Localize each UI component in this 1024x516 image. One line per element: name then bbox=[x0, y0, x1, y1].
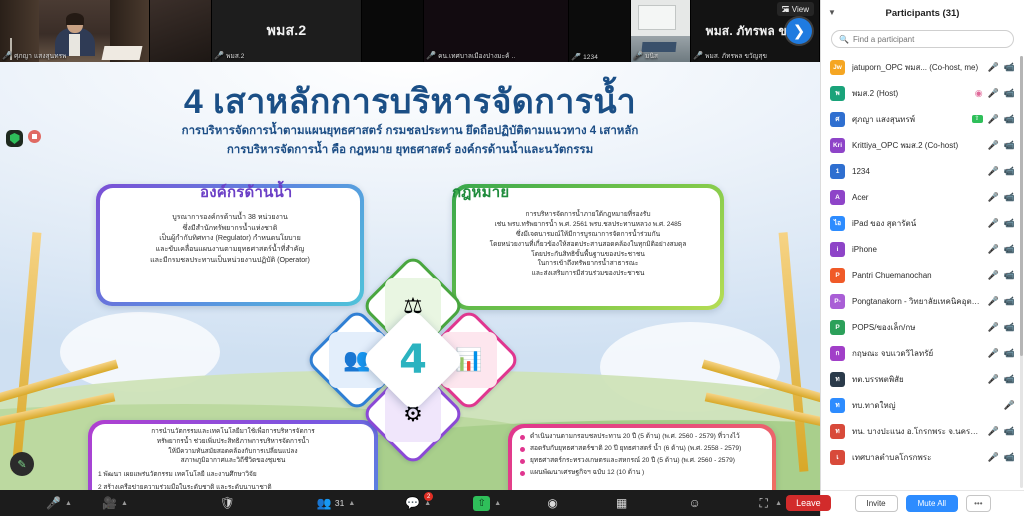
leave-button[interactable]: Leave bbox=[786, 495, 831, 511]
camera-off-icon[interactable]: 📹 bbox=[1004, 245, 1015, 254]
avatar: 1 bbox=[830, 164, 845, 179]
participant-row[interactable]: KriKrittiya_OPC พมส.2 (Co-host)🎤📹 bbox=[821, 132, 1024, 158]
participant-status-icons: 🎤📹 bbox=[988, 193, 1015, 202]
avatar: A bbox=[830, 190, 845, 205]
camera-off-icon[interactable]: 📹 bbox=[1004, 63, 1015, 72]
search-input[interactable] bbox=[853, 35, 1006, 44]
thumbnail-label: 🎤 คน.เทศบาลเมืองปางมะค้ .. bbox=[426, 51, 515, 61]
participant-name: 1234 bbox=[852, 167, 981, 176]
avatar: P bbox=[830, 320, 845, 335]
camera-off-icon[interactable]: 📹 bbox=[1004, 427, 1015, 436]
participant-status-icons: ◉🎤📹 bbox=[975, 89, 1015, 98]
participant-status-icons: 🎤📹 bbox=[988, 375, 1015, 384]
participant-name: iPhone bbox=[852, 245, 981, 254]
avatar: i bbox=[830, 242, 845, 257]
participant-name: ศุภญา แสงสุนทรพ์ bbox=[852, 113, 965, 126]
mic-muted-icon[interactable]: 🎤 bbox=[988, 271, 999, 280]
search-icon: 🔍 bbox=[839, 35, 849, 44]
slide-subtitle-line1: การบริหารจัดการน้ำตามแผนยุทธศาสตร์ กรมชล… bbox=[0, 122, 820, 141]
screen-share-indicator-icon: ⇧ bbox=[972, 115, 983, 123]
camera-off-icon[interactable]: 📹 bbox=[1004, 193, 1015, 202]
thumbnail-label: 🎤 ศุภญา แสงสุนทรพ bbox=[2, 51, 67, 61]
avatar: ไอ bbox=[830, 216, 845, 231]
thumbnail-name: 1234 bbox=[583, 54, 598, 61]
avatar: ท bbox=[830, 398, 845, 413]
card-line: และมีกรมชลประทานเป็นหน่วยงานปฏิบัติ (Ope… bbox=[105, 255, 355, 266]
mute-all-button[interactable]: Mute All bbox=[906, 495, 958, 512]
participant-name: Krittiya_OPC พมส.2 (Co-host) bbox=[852, 139, 981, 152]
card-numbered-list: 1 พัฒนา เผยแพร่นวัตกรรม เทคโนโลยี และงาน… bbox=[98, 470, 368, 490]
participant-name: ทบ.ทาดใหญ่ bbox=[852, 399, 997, 412]
mic-muted-icon[interactable]: 🎤 bbox=[988, 219, 999, 228]
share-screen-icon: ⇧ bbox=[473, 496, 490, 511]
thumbnail-name: มนิส bbox=[645, 51, 658, 61]
camera-off-icon[interactable]: 📹 bbox=[1004, 297, 1015, 306]
participant-status-icons: 🎤📹 bbox=[988, 167, 1015, 176]
avatar: เ bbox=[830, 450, 845, 465]
view-button[interactable]: View bbox=[777, 2, 814, 16]
slide-subtitle-line2: การบริหารจัดการน้ำ คือ กฎหมาย ยุทธศาสตร์… bbox=[0, 141, 820, 160]
more-options-button[interactable]: ••• bbox=[966, 495, 990, 512]
slide-subtitle: การบริหารจัดการน้ำตามแผนยุทธศาสตร์ กรมชล… bbox=[0, 122, 820, 160]
participant-status-icons: 🎤📹 bbox=[988, 63, 1015, 72]
mic-muted-icon[interactable]: 🎤 bbox=[988, 89, 999, 98]
participants-list[interactable]: Jwjatuporn_OPC พมส... (Co-host, me)🎤📹พพม… bbox=[821, 54, 1024, 490]
breakout-rooms-button[interactable]: ▦ bbox=[610, 490, 633, 516]
mic-muted-icon: 🎤 bbox=[571, 53, 581, 61]
participant-name: กฤษณะ จบแวดวิไลทรัย์ bbox=[852, 347, 981, 360]
participant-name: Acer bbox=[852, 193, 981, 202]
record-button[interactable]: ◉ bbox=[541, 490, 564, 516]
card-bullet-item: ดำเนินงานตามกรอบชลประทาน 20 ปี (5 ด้าน) … bbox=[520, 432, 768, 442]
card-line: ซึ่งมีสำนักทรัพยากรน้ำแห่งชาติ bbox=[105, 223, 355, 234]
participant-row[interactable]: PPOPS/ของเล็ก/กษ🎤📹 bbox=[821, 314, 1024, 340]
avatar: ท bbox=[830, 372, 845, 387]
thumbnail-name: พมส.2 bbox=[226, 51, 244, 61]
share-screen-button[interactable]: ⇧ ▲ bbox=[469, 490, 505, 516]
mic-muted-icon[interactable]: 🎤 bbox=[988, 375, 999, 384]
chat-unread-badge: 2 bbox=[424, 492, 433, 501]
camera-off-icon[interactable]: 📹 bbox=[1004, 375, 1015, 384]
thumbnail-name: พมส. ภัทรพล ขวัญสุข bbox=[705, 51, 767, 61]
chevron-up-icon[interactable]: ▲ bbox=[775, 500, 782, 507]
video-thumbnail[interactable]: 🎤 1234 bbox=[569, 0, 631, 62]
avatar: ก bbox=[830, 346, 845, 361]
security-button[interactable]: 🛡 bbox=[216, 490, 239, 516]
card-line: บูรณาการองค์กรด้านน้ำ 38 หน่วยงาน bbox=[105, 212, 355, 223]
camera-off-icon[interactable]: 📹 bbox=[1004, 219, 1015, 228]
avatar: Kri bbox=[830, 138, 845, 153]
participant-row[interactable]: ททน. บางปะแนง อ.โกรกพระ จ.นครสวรรค์🎤📹 bbox=[821, 418, 1024, 444]
quadrant-heading-law: กฎหมาย bbox=[452, 180, 509, 204]
grid-squares-icon: ▦ bbox=[614, 496, 629, 511]
thumbnail-label: 🎤 พมส.2 bbox=[214, 51, 245, 61]
card-line: และส่งเสริมการมีส่วนร่วมของประชาชน bbox=[461, 269, 715, 279]
participant-search-wrapper: 🔍 bbox=[821, 26, 1024, 54]
microphone-muted-icon: 🎤 bbox=[46, 496, 61, 511]
shield-security-icon: 🛡 bbox=[220, 496, 235, 511]
card-text: ดำเนินงานตามกรอบชลประทาน 20 ปี (5 ด้าน) … bbox=[508, 424, 776, 490]
chevron-down-icon[interactable]: ▼ bbox=[828, 8, 836, 17]
quadrant-heading-organization: องค์กรด้านน้ำ bbox=[200, 180, 292, 204]
card-line: ทรัพยากรน้ำ ช่วยเพิ่มประสิทธิภาพการบริหา… bbox=[98, 437, 368, 447]
shared-screen-area[interactable]: 4 เสาหลักการบริหารจัดการน้ำ การบริหารจัด… bbox=[0, 62, 820, 490]
participant-status-icons: 🎤📹 bbox=[988, 245, 1015, 254]
participant-row[interactable]: ศศุภญา แสงสุนทรพ์⇧🎤📹 bbox=[821, 106, 1024, 132]
chevron-up-icon[interactable]: ▲ bbox=[348, 500, 355, 507]
meeting-toolbar: 🎤 ▲ 🎥 ▲ 🛡 👥 31 ▲ 💬 2 bbox=[0, 490, 820, 516]
mic-muted-icon[interactable]: 🎤 bbox=[988, 245, 999, 254]
card-line: เป็นผู้กำกับทิศทาง (Regulator) กำหนดนโยบ… bbox=[105, 233, 355, 244]
chevron-up-icon[interactable]: ▲ bbox=[494, 500, 501, 507]
thumbnail-label: 🎤 พมส. ภัทรพล ขวัญสุข bbox=[693, 51, 767, 61]
mic-muted-icon[interactable]: 🎤 bbox=[988, 323, 999, 332]
video-thumbnail[interactable] bbox=[362, 0, 424, 62]
participant-name: POPS/ของเล็ก/กษ bbox=[852, 321, 981, 334]
stop-video-button[interactable]: 🎥 ▲ bbox=[98, 490, 132, 516]
thumbnail-name: ศุภญา แสงสุนทรพ bbox=[14, 51, 67, 61]
meeting-stage: 🎤 ศุภญา แสงสุนทรพ พมส.2 🎤 พมส.2 🎤 คน.เทศ… bbox=[0, 0, 820, 516]
thumbnail-label: 🎤 มนิส bbox=[633, 51, 658, 61]
invite-button[interactable]: Invite bbox=[855, 495, 898, 512]
reactions-button[interactable]: ☺ bbox=[683, 490, 706, 516]
card-line: เช่น พรบ.ทรัพยากรน้ำ พ.ศ. 2561 พรบ.ชลประ… bbox=[461, 220, 715, 230]
more-view-button[interactable]: ⛶ ▲ bbox=[752, 490, 786, 516]
camera-off-icon[interactable]: 📹 bbox=[1004, 141, 1015, 150]
video-thumbnail[interactable]: 🎤 คน.เทศบาลเมืองปางมะค้ .. bbox=[424, 0, 569, 62]
participant-row[interactable]: AAcer🎤📹 bbox=[821, 184, 1024, 210]
card-line: การบริหารจัดการน้ำภายใต้กฎหมายที่รองรับ bbox=[461, 210, 715, 220]
participant-status-icons: 🎤📹 bbox=[988, 271, 1015, 280]
participant-status-icons: 🎤📹 bbox=[988, 297, 1015, 306]
participant-status-icons: ⇧🎤📹 bbox=[972, 115, 1015, 124]
mic-muted-icon: 🎤 bbox=[2, 52, 12, 60]
video-thumbnail[interactable]: 🎤 มนิส bbox=[631, 0, 691, 62]
slide-title: 4 เสาหลักการบริหารจัดการน้ำ bbox=[0, 74, 820, 128]
thumbnail-name: คน.เทศบาลเมืองปางมะค้ .. bbox=[438, 51, 515, 61]
participants-panel-title: Participants (31) bbox=[821, 8, 1024, 19]
participant-row[interactable]: Jwjatuporn_OPC พมส... (Co-host, me)🎤📹 bbox=[821, 54, 1024, 80]
participant-name: พมส.2 (Host) bbox=[852, 87, 968, 100]
mic-muted-icon[interactable]: 🎤 bbox=[1004, 401, 1015, 410]
people-icon: 👥 bbox=[317, 496, 332, 511]
scrollbar-thumb[interactable] bbox=[1020, 56, 1023, 356]
zoom-meeting-window: 🎤 ศุภญา แสงสุนทรพ พมส.2 🎤 พมส.2 🎤 คน.เทศ… bbox=[0, 0, 1024, 516]
participant-status-icons: 🎤📹 bbox=[988, 349, 1015, 358]
participants-panel-header: ▼ Participants (31) bbox=[821, 0, 1024, 26]
avatar: Jw bbox=[830, 60, 845, 75]
participant-row[interactable]: กกฤษณะ จบแวดวิไลทรัย์🎤📹 bbox=[821, 340, 1024, 366]
card-line: และขับเคลื่อนแผนงานตามยุทธศาสตร์น้ำที่สำ… bbox=[105, 244, 355, 255]
video-filmstrip[interactable]: 🎤 ศุภญา แสงสุนทรพ พมส.2 🎤 พมส.2 🎤 คน.เทศ… bbox=[0, 0, 820, 62]
mic-muted-icon[interactable]: 🎤 bbox=[988, 349, 999, 358]
participant-name: iPad ของ สุดารัตน์ bbox=[852, 217, 981, 230]
mic-muted-icon: 🎤 bbox=[693, 52, 703, 60]
pencil-annotate-icon[interactable]: ✎ bbox=[10, 452, 34, 476]
camera-off-icon: 🎥 bbox=[102, 496, 117, 511]
mic-muted-icon[interactable]: 🎤 bbox=[988, 427, 999, 436]
participant-search-box[interactable]: 🔍 bbox=[831, 30, 1014, 48]
card-line: ให้มีความทันสมัยสอดคล้องกับการเปลี่ยนแปล… bbox=[98, 447, 368, 457]
recording-shield-icon[interactable] bbox=[6, 130, 23, 147]
recording-indicator-icon: ◉ bbox=[975, 89, 983, 98]
participant-name: jatuporn_OPC พมส... (Co-host, me) bbox=[852, 61, 981, 74]
card-bullet-item: ยุทธศาสตร์กระทรวงเกษตรและสหกรณ์ 20 ปี (5… bbox=[520, 456, 768, 466]
camera-off-icon[interactable]: 📹 bbox=[1004, 453, 1015, 462]
avatar: ศ bbox=[830, 112, 845, 127]
card-line: การนำนวัตกรรมและเทคโนโลยีมาใช้เพื่อการบร… bbox=[98, 427, 368, 437]
participant-status-icons: 🎤📹 bbox=[988, 427, 1015, 436]
participants-panel-footer: Invite Mute All ••• bbox=[821, 490, 1024, 516]
card-bullet-item: แผนพัฒนาเศรษฐกิจฯ ฉบับ 12 (10 ด้าน ) bbox=[520, 468, 768, 478]
camera-off-icon[interactable]: 📹 bbox=[1004, 89, 1015, 98]
card-line: ในการเข้าถึงทรัพยากรน้ำสาธารณะ bbox=[461, 259, 715, 269]
participant-row[interactable]: ททต.บรรพตพิสัย🎤📹 bbox=[821, 366, 1024, 392]
mic-muted-icon[interactable]: 🎤 bbox=[988, 141, 999, 150]
thumbnail-label: 🎤 1234 bbox=[571, 53, 598, 61]
participant-row[interactable]: ททบ.ทาดใหญ่🎤 bbox=[821, 392, 1024, 418]
avatar: ท bbox=[830, 424, 845, 439]
quadrant-card-strategy: ดำเนินงานตามกรอบชลประทาน 20 ปี (5 ด้าน) … bbox=[508, 424, 776, 490]
grid-layout-icon bbox=[782, 6, 789, 12]
card-line: ซึ่งมีเจตนารมณ์ให้มีการบูรณาการจัดการน้ำ… bbox=[461, 230, 715, 240]
participant-name: ทต.บรรพตพิสัย bbox=[852, 373, 981, 386]
video-thumbnail[interactable]: 🎤 ศุภญา แสงสุนทรพ bbox=[0, 0, 150, 62]
camera-off-icon[interactable]: 📹 bbox=[1004, 349, 1015, 358]
mic-muted-icon[interactable]: 🎤 bbox=[988, 297, 999, 306]
view-button-label: View bbox=[792, 5, 809, 14]
card-numbered-item: 1 พัฒนา เผยแพร่นวัตกรรม เทคโนโลยี และงาน… bbox=[98, 470, 368, 480]
chat-button[interactable]: 💬 2 ▲ bbox=[401, 490, 435, 516]
card-bullet-list: ดำเนินงานตามกรอบชลประทาน 20 ปี (5 ด้าน) … bbox=[520, 432, 768, 478]
card-line: โดยหน่วยงานที่เกี่ยวข้องให้สอดประสานสอดค… bbox=[461, 240, 715, 250]
participant-name: Pantri Chuemanochan bbox=[852, 271, 981, 280]
participant-row[interactable]: P-Pongtanakorn - วิทยาลัยเทคนิคอุตสาหกร.… bbox=[821, 288, 1024, 314]
mic-muted-icon: 🎤 bbox=[633, 52, 643, 60]
participant-row[interactable]: iiPhone🎤📹 bbox=[821, 236, 1024, 262]
participants-panel: ▼ Participants (31) 🔍 Jwjatuporn_OPC พมส… bbox=[820, 0, 1024, 516]
avatar: P bbox=[830, 268, 845, 283]
participant-row[interactable]: เเทศบาลตำบลโกรกพระ🎤📹 bbox=[821, 444, 1024, 470]
avatar: พ bbox=[830, 86, 845, 101]
camera-off-icon[interactable]: 📹 bbox=[1004, 323, 1015, 332]
participant-status-icons: 🎤📹 bbox=[988, 323, 1015, 332]
participant-status-icons: 🎤📹 bbox=[988, 141, 1015, 150]
record-circle-icon: ◉ bbox=[545, 496, 560, 511]
participant-row[interactable]: PPantri Chuemanochan🎤📹 bbox=[821, 262, 1024, 288]
participant-status-icons: 🎤📹 bbox=[988, 219, 1015, 228]
camera-on-icon[interactable]: 📹 bbox=[1004, 115, 1015, 124]
mic-muted-icon: 🎤 bbox=[426, 52, 436, 60]
mic-muted-icon[interactable]: 🎤 bbox=[988, 453, 999, 462]
video-thumbnail[interactable]: พมส.2 🎤 พมส.2 bbox=[212, 0, 362, 62]
chevron-up-icon[interactable]: ▲ bbox=[121, 500, 128, 507]
mic-muted-icon: 🎤 bbox=[214, 52, 224, 60]
participant-status-icons: 🎤 bbox=[1004, 401, 1015, 410]
center-number-label: 4 bbox=[385, 332, 441, 388]
card-bullet-item: สอดรับกับยุทธศาสตร์ชาติ 20 ปี ยุทธศาสตร์… bbox=[520, 444, 768, 454]
participant-name: เทศบาลตำบลโกรกพระ bbox=[852, 451, 981, 464]
card-numbered-item: 2 สร้างเครือข่ายความร่วมมือในระดับชาติ แ… bbox=[98, 483, 368, 490]
mic-muted-icon[interactable]: 🎤 bbox=[988, 193, 999, 202]
pause-recording-icon[interactable] bbox=[28, 130, 41, 143]
mute-audio-button[interactable]: 🎤 ▲ bbox=[42, 490, 76, 516]
avatar: P- bbox=[830, 294, 845, 309]
camera-on-icon[interactable]: 📹 bbox=[1004, 167, 1015, 176]
participant-name: ทน. บางปะแนง อ.โกรกพระ จ.นครสวรรค์ bbox=[852, 425, 981, 438]
participants-count: 31 bbox=[335, 498, 344, 508]
presentation-slide: 4 เสาหลักการบริหารจัดการน้ำ การบริหารจัด… bbox=[0, 62, 820, 490]
fullscreen-frame-icon: ⛶ bbox=[756, 496, 771, 511]
mic-muted-icon[interactable]: 🎤 bbox=[988, 167, 999, 176]
camera-off-icon[interactable]: 📹 bbox=[1004, 271, 1015, 280]
chat-bubble-icon: 💬 bbox=[405, 496, 420, 511]
chevron-up-icon[interactable]: ▲ bbox=[65, 500, 72, 507]
card-line: สภาพภูมิอากาศและวิถีชีวิตของชุมชน bbox=[98, 456, 368, 466]
participants-button[interactable]: 👥 31 ▲ bbox=[313, 490, 359, 516]
card-line: โดยประกันสิทธิขั้นพื้นฐานของประชาชน bbox=[461, 250, 715, 260]
participant-row[interactable]: พพมส.2 (Host)◉🎤📹 bbox=[821, 80, 1024, 106]
participant-row[interactable]: ไอiPad ของ สุดารัตน์🎤📹 bbox=[821, 210, 1024, 236]
video-thumbnail[interactable] bbox=[150, 0, 212, 62]
participant-status-icons: 🎤📹 bbox=[988, 453, 1015, 462]
participant-name: Pongtanakorn - วิทยาลัยเทคนิคอุตสาหกร... bbox=[852, 295, 981, 308]
mic-on-icon[interactable]: 🎤 bbox=[988, 115, 999, 124]
smiley-reaction-icon: ☺ bbox=[687, 496, 702, 511]
center-diamond-cluster: ⚖ 👥 📊 ⚙ 4 bbox=[330, 277, 495, 442]
participant-row[interactable]: 11234🎤📹 bbox=[821, 158, 1024, 184]
mic-muted-icon[interactable]: 🎤 bbox=[988, 63, 999, 72]
chevron-right-icon[interactable]: ❯ bbox=[786, 18, 812, 44]
